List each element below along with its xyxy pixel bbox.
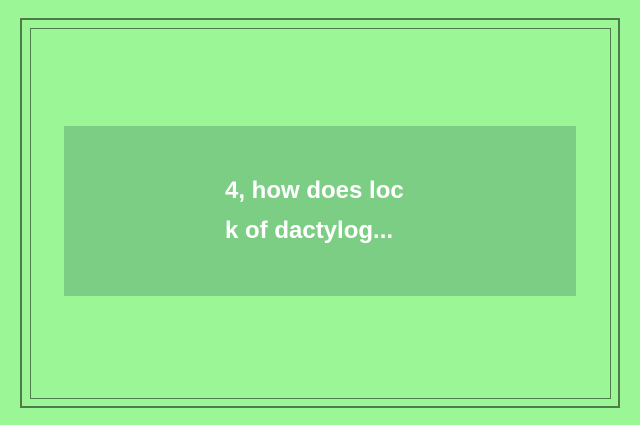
card-text-line-2: k of dactylog... — [225, 211, 415, 251]
content-panel: 4, how does loc k of dactylog... — [64, 126, 576, 296]
card-canvas: 4, how does loc k of dactylog... — [0, 0, 640, 425]
card-text-block: 4, how does loc k of dactylog... — [225, 171, 415, 251]
card-text-line-1: 4, how does loc — [225, 171, 415, 211]
